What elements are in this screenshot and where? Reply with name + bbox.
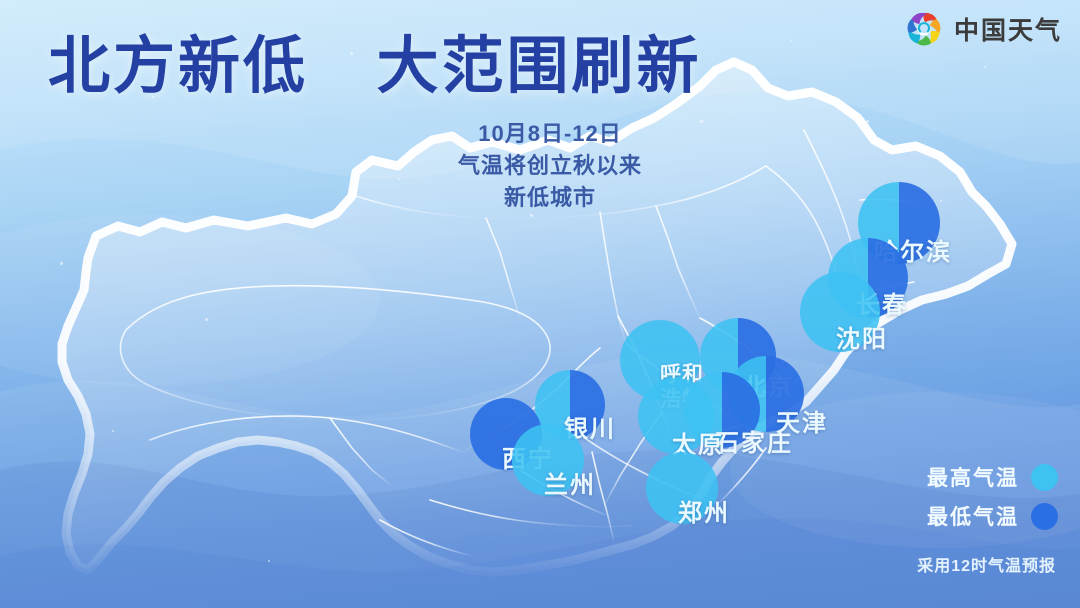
city-marker[interactable]: 兰州 xyxy=(512,424,584,496)
sparkle-dot xyxy=(60,262,63,265)
legend-label-low: 最低气温 xyxy=(927,501,1019,531)
sparkle-dot xyxy=(790,40,792,42)
legend-label-high: 最高气温 xyxy=(927,462,1019,492)
forecast-note: 采用12时气温预报 xyxy=(917,552,1056,576)
sparkle-dot xyxy=(530,214,533,217)
sparkle-dot xyxy=(866,120,869,123)
sparkle-dot xyxy=(398,178,400,180)
city-label: 石家庄 xyxy=(715,431,793,457)
subtitle-line-1: 10月8日-12日 xyxy=(430,118,670,150)
city-label: 郑州 xyxy=(678,501,730,527)
logo-text: 中国天气 xyxy=(954,11,1062,47)
city-label: 兰州 xyxy=(544,473,596,499)
sparkle-dot xyxy=(268,560,270,562)
legend-swatch-low xyxy=(1031,503,1058,530)
sparkle-dot xyxy=(700,120,703,123)
city-marker[interactable]: 沈阳 xyxy=(800,272,880,352)
sparkle-dot xyxy=(984,66,986,68)
subtitle-line-2: 气温将创立秋以来 xyxy=(430,150,670,182)
subtitle-block: 10月8日-12日 气温将创立秋以来 新低城市 xyxy=(430,118,670,214)
title-part-2: 大范围刷新 xyxy=(376,32,701,101)
city-marker[interactable]: 郑州 xyxy=(646,452,718,524)
sparkle-dot xyxy=(112,430,114,432)
page-title: 北方新低 大范围刷新 xyxy=(48,34,702,99)
pinwheel-swirl-icon xyxy=(903,8,945,50)
title-part-1: 北方新低 xyxy=(48,32,308,101)
legend: 最高气温 最低气温 xyxy=(927,462,1058,540)
city-marker[interactable]: 太原 xyxy=(638,378,714,454)
weather-infographic: 北方新低 大范围刷新 10月8日-12日 气温将创立秋以来 新低城市 xyxy=(0,0,1080,608)
subtitle-line-3: 新低城市 xyxy=(430,182,670,214)
city-label: 沈阳 xyxy=(836,327,888,353)
legend-row-high: 最高气温 xyxy=(927,462,1058,492)
legend-swatch-high xyxy=(1031,464,1058,491)
sparkle-dot xyxy=(205,318,208,321)
brand-logo[interactable]: 中国天气 xyxy=(903,8,1062,50)
sparkle-dot xyxy=(940,200,942,202)
legend-row-low: 最低气温 xyxy=(927,501,1058,531)
